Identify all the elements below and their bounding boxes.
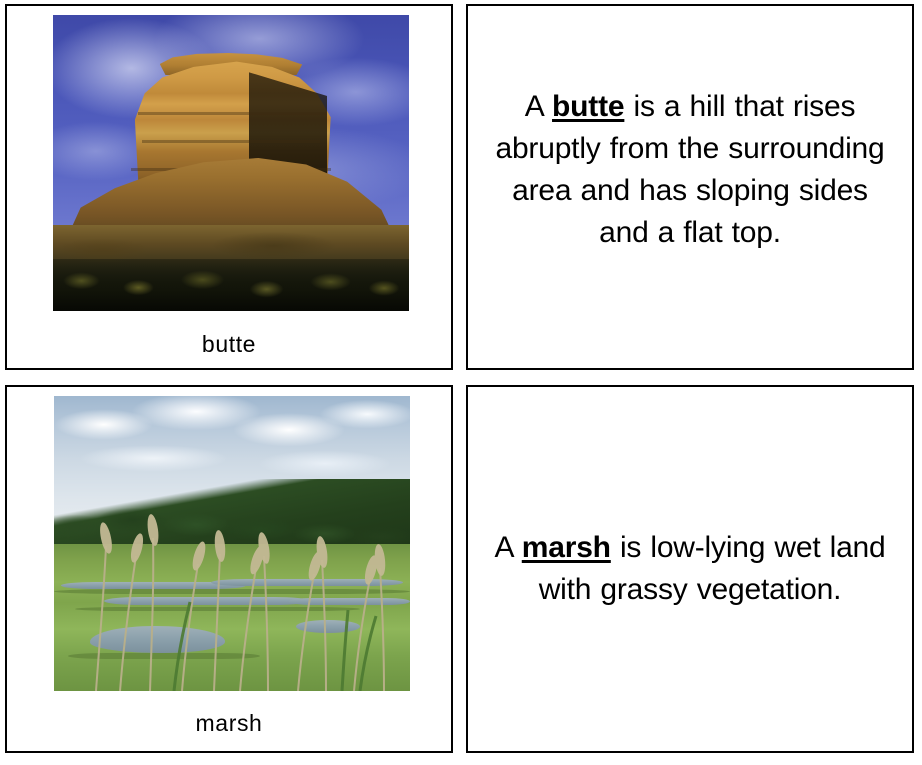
marsh-reed-stalks <box>54 396 410 691</box>
marsh-photo-canvas <box>54 396 410 691</box>
definition-lead-in: A <box>525 90 552 123</box>
marsh-definition-text: A marsh is low-lying wet land with grass… <box>492 387 888 751</box>
butte-landform-layer <box>53 15 409 311</box>
marsh-picture-card[interactable]: marsh <box>5 385 453 753</box>
marsh-caption-label: marsh <box>7 710 451 737</box>
butte-photograph <box>53 15 409 311</box>
butte-caption-label: butte <box>7 331 451 358</box>
definition-lead-in: A <box>494 531 521 564</box>
marsh-photograph <box>54 396 410 691</box>
butte-definition-text: A butte is a hill that rises abruptly fr… <box>492 86 888 254</box>
definition-term-butte: butte <box>552 90 624 123</box>
marsh-definition-card[interactable]: A marsh is low-lying wet land with grass… <box>466 385 914 753</box>
card-sheet: butte A butte is a hill that rises abrup… <box>0 0 922 765</box>
definition-term-marsh: marsh <box>522 531 611 564</box>
butte-rock-ledge <box>138 112 327 115</box>
butte-foreground-scrub <box>53 259 409 311</box>
butte-photo-canvas <box>53 15 409 311</box>
butte-picture-card[interactable]: butte <box>5 4 453 370</box>
butte-rock-ledge <box>142 140 320 143</box>
butte-definition-card[interactable]: A butte is a hill that rises abruptly fr… <box>466 4 914 370</box>
